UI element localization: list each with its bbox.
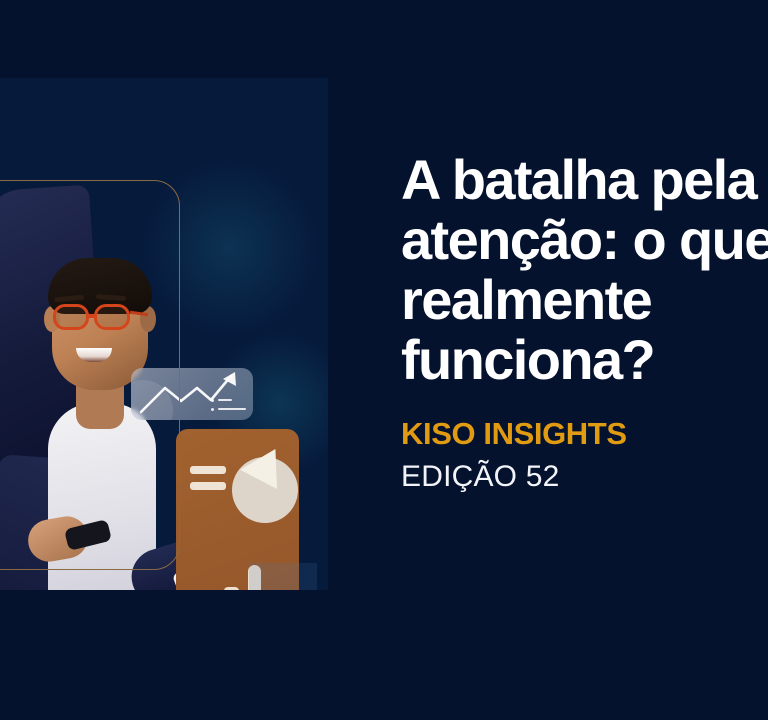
translucent-blue-overlay <box>249 563 317 590</box>
eyeglasses-lens-left <box>53 304 89 330</box>
brand-name: KISO INSIGHTS <box>401 416 768 452</box>
card-bar-row-1 <box>190 466 226 474</box>
pie-chart-icon <box>230 447 302 519</box>
headline-line-2: atenção: o que <box>401 210 768 270</box>
eyeglasses-lens-right <box>94 304 130 330</box>
headline-line-1: A batalha pela <box>401 150 768 210</box>
headline-line-3: realmente <box>401 270 768 330</box>
card-bar-row-2 <box>190 482 226 490</box>
text-content: A batalha pela atenção: o que realmente … <box>401 150 768 494</box>
line-chart-upward-arrow-icon <box>131 368 253 420</box>
line-chart-card <box>131 368 253 420</box>
edition-label: EDIÇÃO 52 <box>401 460 768 494</box>
headline-line-4: funciona? <box>401 330 768 390</box>
eyeglasses-bridge <box>89 314 96 318</box>
legend-dot-1 <box>211 399 214 402</box>
card-dot-indicator <box>224 587 239 590</box>
page-title: A batalha pela atenção: o que realmente … <box>401 150 768 390</box>
photo-panel <box>0 78 328 590</box>
legend-line-1 <box>218 399 232 401</box>
legend-line-2 <box>218 408 246 410</box>
newsletter-banner: A batalha pela atenção: o que realmente … <box>0 0 768 720</box>
legend-dot-2 <box>211 408 214 411</box>
